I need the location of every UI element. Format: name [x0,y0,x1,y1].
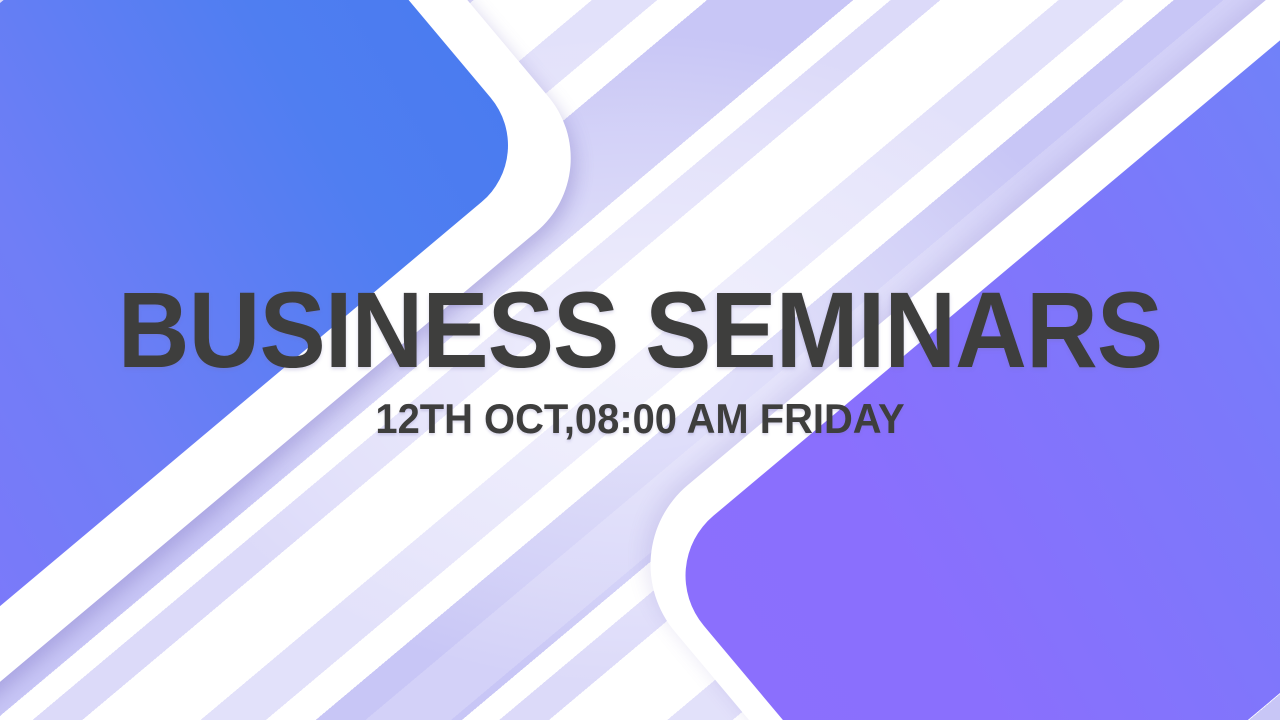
poster-subtitle: 12TH OCT,08:00 AM FRIDAY [32,398,1248,440]
headline-block: BUSINESS SEMINARS 12TH OCT,08:00 AM FRID… [0,276,1280,440]
poster-canvas: BUSINESS SEMINARS 12TH OCT,08:00 AM FRID… [0,0,1280,720]
poster-title: BUSINESS SEMINARS [51,276,1229,384]
